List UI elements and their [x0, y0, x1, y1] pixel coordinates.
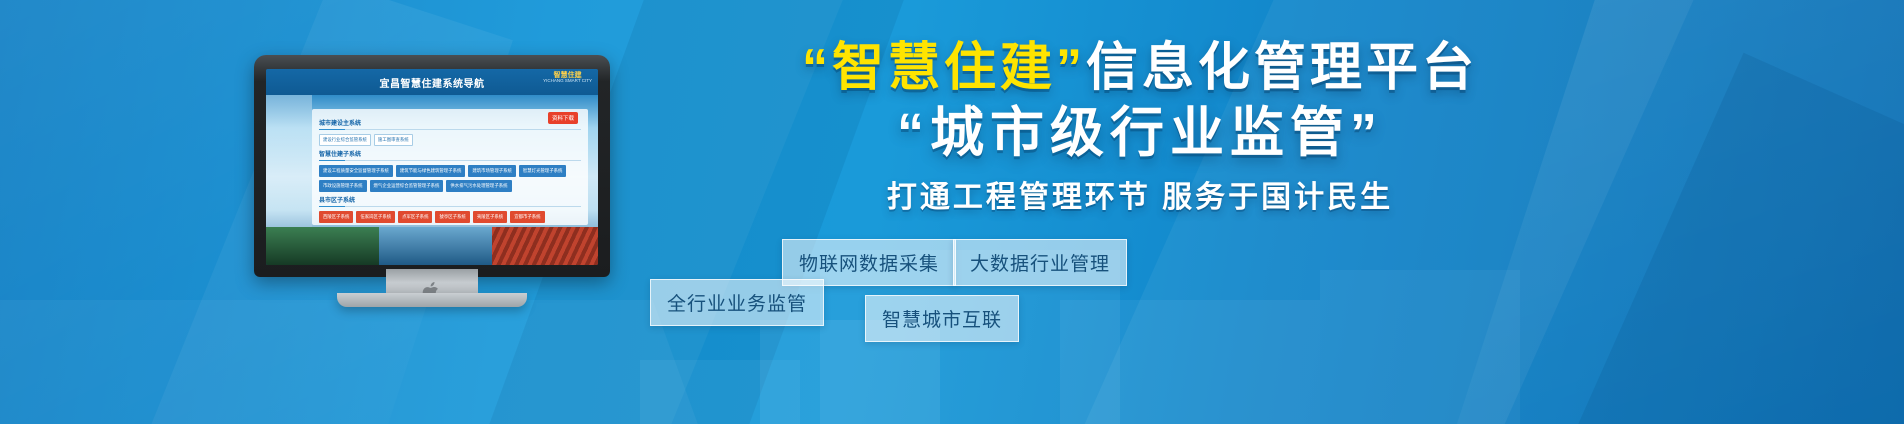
screen-chip[interactable]: 建设工程质量安全监督管理子系统: [319, 165, 393, 177]
headline-rest: 信息化管理平台: [1086, 39, 1478, 97]
screen-brand-line2: YICHANG SMART CITY: [543, 79, 592, 84]
background-facet: [0, 300, 747, 424]
headline-line-2: “城市级行业监管”: [640, 104, 1640, 162]
background-facet: [1320, 270, 1520, 424]
screen-photo-panel: [266, 227, 379, 265]
screen-chip[interactable]: 燃气企业运营综合监管管理子系统: [370, 180, 444, 192]
screen-nav-card: 资料下载 城市建设主系统 建设行业综合监管系统 施工图审查系统 智慧住建子系统 …: [312, 109, 588, 225]
screen-section-chiplist: 建设行业综合监管系统 施工图审查系统: [319, 134, 581, 146]
screen-chip[interactable]: 建设行业综合监管系统: [319, 134, 371, 146]
screen-title: 宜昌智慧住建系统导航: [380, 75, 485, 90]
feature-tag-industry-supervision[interactable]: 全行业业务监管: [650, 279, 824, 326]
screen-chip[interactable]: 西陵区子系统: [319, 211, 353, 223]
screen-chip[interactable]: 点军区子系统: [398, 211, 432, 223]
screen-photo-panel: [492, 227, 598, 265]
headline-quote-close: ”: [1056, 39, 1086, 97]
headline-block: “智慧住建”信息化管理平台 “城市级行业监管” 打通工程管理环节 服务于国计民生: [640, 40, 1640, 216]
screen-body: 资料下载 城市建设主系统 建设行业综合监管系统 施工图审查系统 智慧住建子系统 …: [266, 95, 598, 265]
monitor-screen: 宜昌智慧住建系统导航 智慧住建 YICHANG SMART CITY 资料下载 …: [266, 69, 598, 265]
feature-tag-smart-city[interactable]: 智慧城市互联: [865, 295, 1019, 342]
screen-photo-panel: [379, 227, 492, 265]
feature-tag-bigdata-industry[interactable]: 大数据行业管理: [953, 239, 1127, 286]
screen-chip[interactable]: 夷陵区子系统: [473, 211, 507, 223]
screen-brand-logo: 智慧住建 YICHANG SMART CITY: [543, 72, 592, 84]
headline-highlight: 智慧住建: [832, 39, 1056, 97]
background-facet: [1060, 300, 1320, 424]
screen-section-heading: 智慧住建子系统: [319, 149, 581, 161]
imac-mockup: 宜昌智慧住建系统导航 智慧住建 YICHANG SMART CITY 资料下载 …: [254, 55, 610, 305]
headline-line-1: “智慧住建”信息化管理平台: [640, 40, 1640, 96]
screen-chip[interactable]: 建筑市场管理子系统: [468, 165, 516, 177]
screen-section-chiplist: 西陵区子系统 伍家岗区子系统 点军区子系统 猇亭区子系统 夷陵区子系统 宜都市子…: [319, 211, 581, 225]
screen-section-chiplist: 建设工程质量安全监督管理子系统 建筑节能与绿色建筑管理子系统 建筑市场管理子系统…: [319, 165, 581, 192]
screen-top-bar: 宜昌智慧住建系统导航 智慧住建 YICHANG SMART CITY: [266, 69, 598, 95]
screen-chip[interactable]: 供水排气污水处理管理子系统: [446, 180, 511, 192]
hero-banner: 宜昌智慧住建系统导航 智慧住建 YICHANG SMART CITY 资料下载 …: [0, 0, 1904, 424]
screen-chip[interactable]: 伍家岗区子系统: [356, 211, 395, 223]
monitor-bezel: 宜昌智慧住建系统导航 智慧住建 YICHANG SMART CITY 资料下载 …: [254, 55, 610, 277]
screen-section-heading: 县市区子系统: [319, 195, 581, 207]
screen-chip[interactable]: 施工图审查系统: [374, 134, 413, 146]
screen-photo-strip: [266, 227, 598, 265]
headline-quote-open: “: [802, 39, 832, 97]
screen-chip[interactable]: 宜都市子系统: [510, 211, 544, 223]
background-facet: [640, 360, 800, 424]
screen-chip[interactable]: 市政设施管理子系统: [319, 180, 367, 192]
screen-section-heading: 城市建设主系统: [319, 118, 581, 130]
screen-chip[interactable]: 建筑节能与绿色建筑管理子系统: [396, 165, 465, 177]
headline-line-3: 打通工程管理环节 服务于国计民生: [640, 172, 1640, 216]
screen-chip[interactable]: 猇亭区子系统: [435, 211, 469, 223]
monitor-base: [337, 293, 527, 307]
screen-chip[interactable]: 智慧灯光管理子系统: [519, 165, 567, 177]
